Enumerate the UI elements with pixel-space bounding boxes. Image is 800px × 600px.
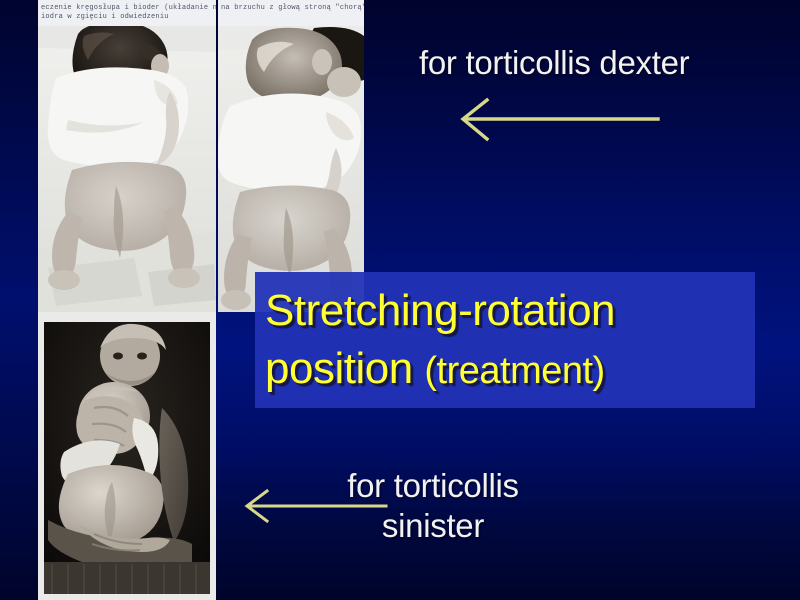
arrow-left-sinister <box>240 487 395 527</box>
title-line-1: Stretching-rotation <box>265 282 755 340</box>
arrow-left-dexter <box>455 96 670 144</box>
typewriter-caption-strip-left: eczenie kręgosłupa i bioder (układanie n… <box>38 0 216 26</box>
typewriter-line-2: iodra w zgięciu i odwiedzeniu <box>38 13 216 22</box>
slide-title: Stretching-rotation position (treatment) <box>265 276 755 406</box>
slide-left-margin <box>0 0 38 600</box>
title-line-2: position (treatment) <box>265 340 755 400</box>
infant-prone-position-photo: eczenie kręgosłupa i bioder (układanie n… <box>38 0 216 312</box>
typewriter-line-1: eczenie kręgosłupa i bioder (układanie n… <box>38 0 216 13</box>
title-line-2-main: position <box>265 344 424 393</box>
typewriter-line-1: na brzuchu z głową stroną "chorą" <box>218 0 364 13</box>
typewriter-caption-strip-right: na brzuchu z głową stroną "chorą" <box>218 0 364 26</box>
caption-torticollis-dexter: for torticollis dexter <box>419 43 689 83</box>
slide-canvas: eczenie kręgosłupa i bioder (układanie n… <box>0 0 800 600</box>
title-line-2-parenthetical: (treatment) <box>424 350 604 392</box>
caregiver-holding-infant-photo <box>38 312 216 600</box>
infant-prone-head-turned-photo: na brzuchu z głową stroną "chorą" <box>218 0 364 312</box>
